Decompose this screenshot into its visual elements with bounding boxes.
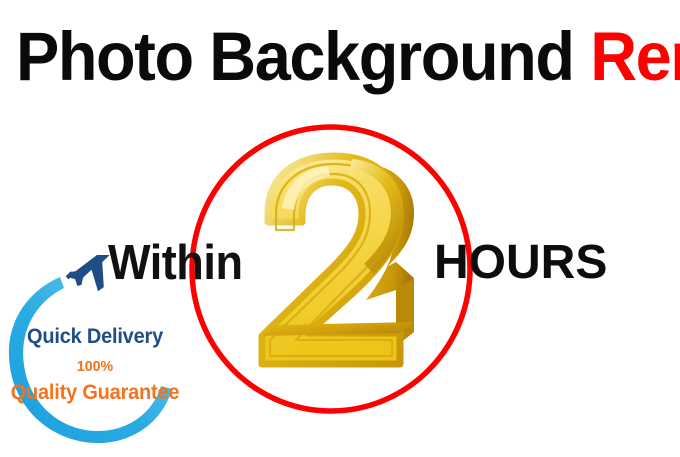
- hours-label: HOURS: [434, 238, 607, 288]
- quick-delivery-badge: Quick Delivery 100% Quality Guarantee: [0, 255, 190, 455]
- title-red-part: Remove: [590, 18, 680, 95]
- badge-arc: [9, 277, 172, 443]
- airplane-icon: [59, 255, 141, 301]
- badge-arc-graphic: [0, 255, 190, 455]
- promo-banner: Photo Background Remove: [0, 0, 680, 457]
- gold-number-graphic: [246, 150, 438, 370]
- page-title: Photo Background Remove: [16, 18, 636, 96]
- title-black-part: Photo Background: [16, 18, 590, 95]
